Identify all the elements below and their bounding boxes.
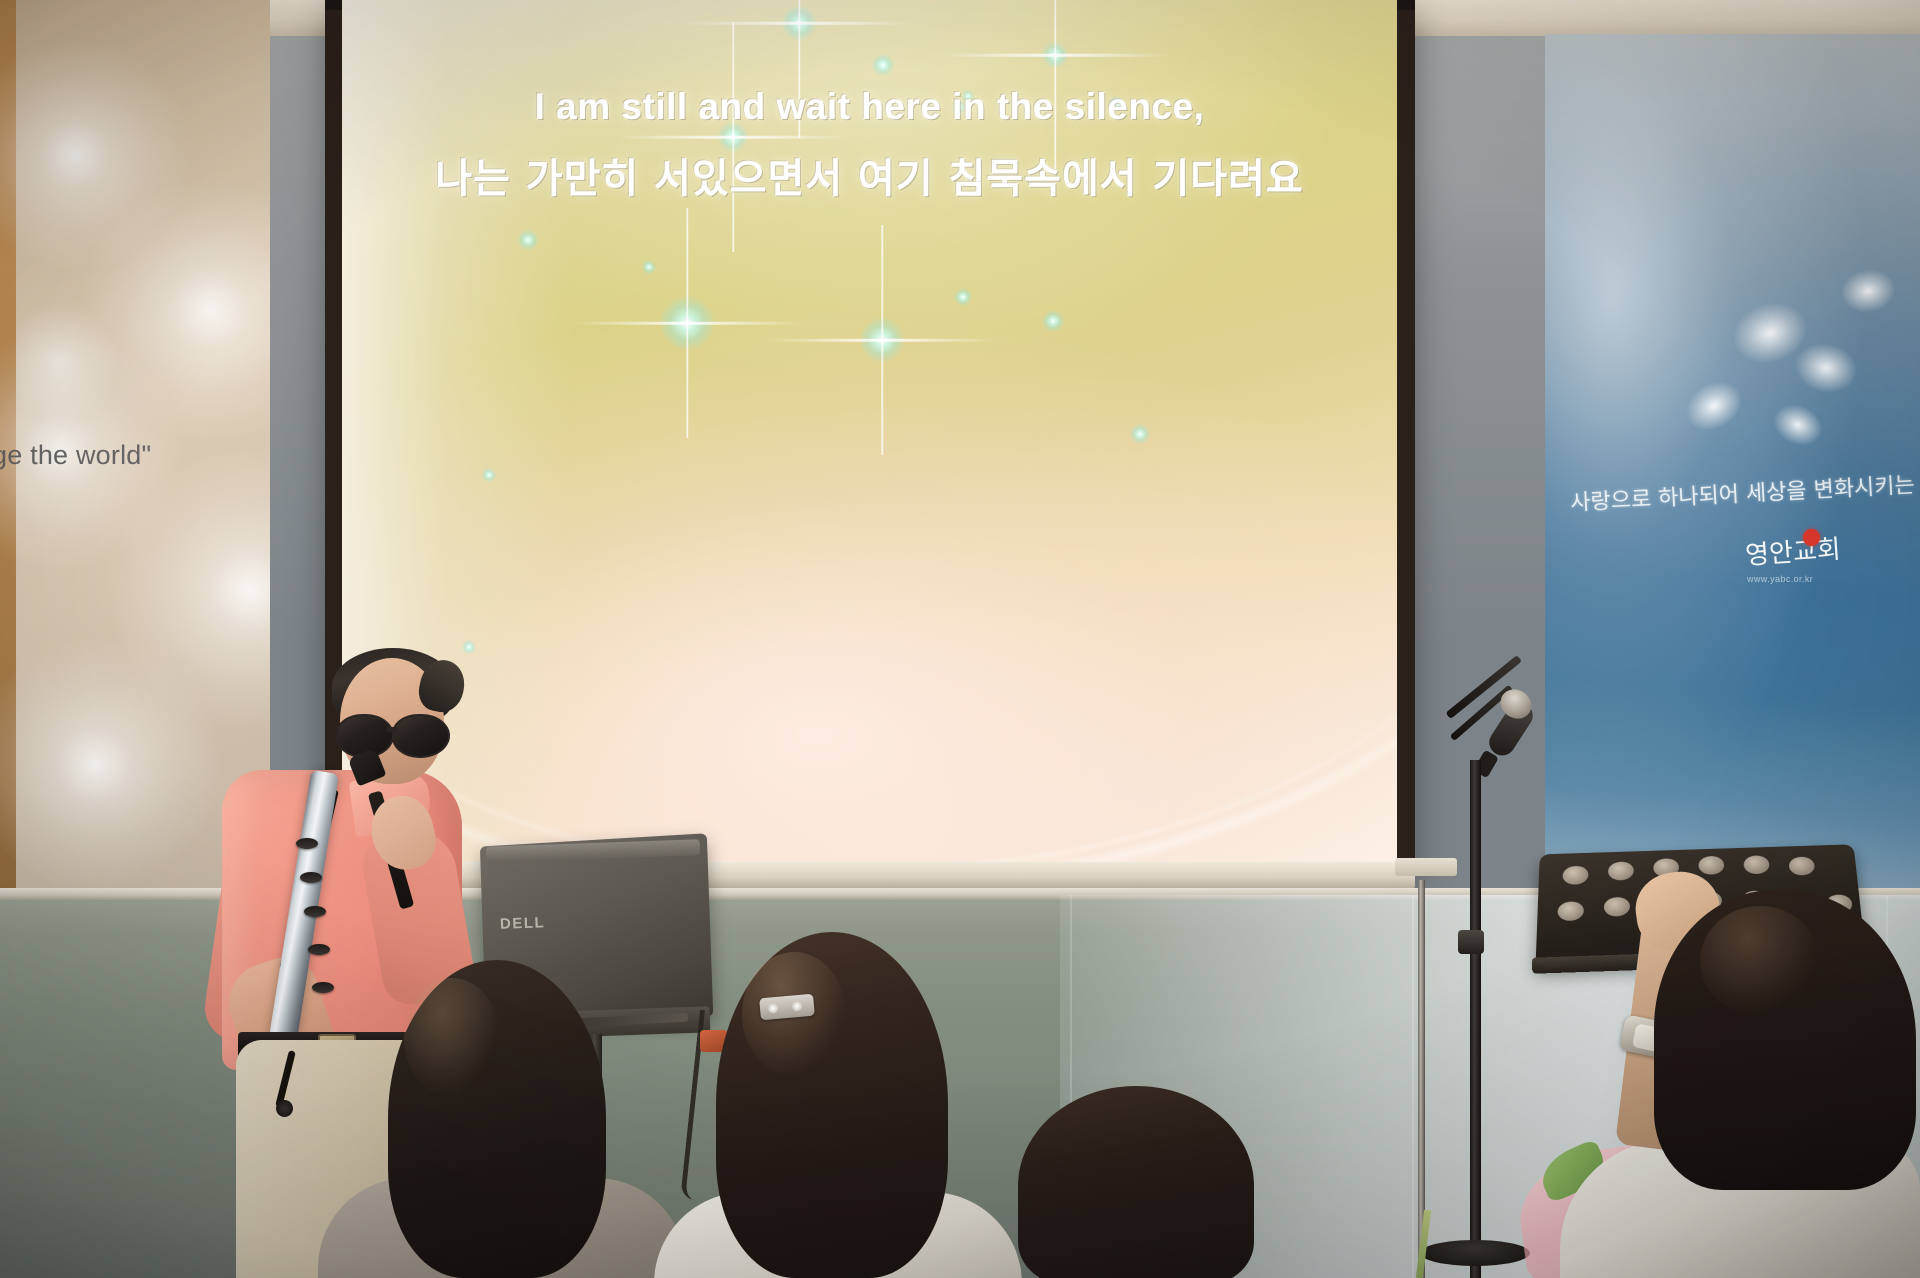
church-website-url: www.yabc.or.kr <box>1747 574 1813 584</box>
music-stand-perforation <box>1698 856 1724 875</box>
lens-flare-spark <box>1130 424 1150 444</box>
projected-lyric-korean: 나는 가만히 서있으면서 여기 침묵속에서 기다려요 <box>342 146 1397 204</box>
music-stand-perforation <box>1608 861 1634 880</box>
saxophone-key <box>308 944 330 955</box>
microphone-stand-collar <box>1458 930 1484 954</box>
saxophone-key <box>300 872 322 883</box>
music-stand-perforation <box>1562 866 1588 885</box>
lens-flare-spark <box>872 54 894 76</box>
wall-panel-seam <box>1412 895 1414 1278</box>
lens-flare-spark <box>1042 42 1068 68</box>
audience-hair-highlight <box>1700 906 1820 1016</box>
sunglasses-icon <box>336 714 452 754</box>
lens-flare-spark <box>1042 310 1064 332</box>
church-logo-text: 영안교회 <box>1744 529 1842 573</box>
microphone-stand-pole <box>1470 760 1481 1278</box>
lens-flare-spark <box>782 6 816 40</box>
saxophone-key <box>312 982 334 993</box>
laptop-brand-logo: DELL <box>500 914 546 933</box>
music-stand-perforation <box>1604 897 1630 917</box>
sunglasses-bridge <box>386 727 398 732</box>
church-logo-dot-icon <box>1803 529 1820 546</box>
music-stand-perforation <box>1557 901 1584 921</box>
audience-member-head <box>1018 1086 1254 1278</box>
lens-flare-spark-large <box>660 296 714 350</box>
lens-flare-spark <box>642 260 656 274</box>
saxophone-key <box>296 838 318 849</box>
projection-screen-roller <box>1395 858 1457 876</box>
photo-scene: ge the world" 사랑으로 하나되어 세상을 변화시키는 영안교회 w… <box>0 0 1920 1278</box>
lens-flare-spark <box>954 288 972 306</box>
sunglasses-right-lens <box>392 714 450 758</box>
saxophone-key <box>304 906 326 917</box>
lens-flare-spark <box>462 640 476 654</box>
hair-clip-bead <box>792 1001 803 1012</box>
projection-screen-surface: I am still and wait here in the silence,… <box>342 0 1397 862</box>
headset-microphone-capsule <box>276 1100 293 1117</box>
right-church-banner: 사랑으로 하나되어 세상을 변화시키는 영안교회 www.yabc.or.kr <box>1545 34 1920 914</box>
microphone-stand-base <box>1420 1240 1530 1266</box>
hair-clip-bead <box>768 1003 779 1014</box>
lens-flare-spark <box>482 468 496 482</box>
hair-clip <box>759 994 815 1021</box>
music-stand-perforation <box>1788 856 1815 875</box>
audience-hair-highlight <box>404 978 500 1098</box>
lens-flare-spark <box>860 318 904 362</box>
music-stand-perforation <box>1743 855 1770 874</box>
lens-flare-spark <box>518 230 538 250</box>
left-dandelion-banner: ge the world" <box>0 0 270 905</box>
projected-lyric-english: I am still and wait here in the silence, <box>342 86 1397 128</box>
left-banner-text: ge the world" <box>0 440 151 471</box>
